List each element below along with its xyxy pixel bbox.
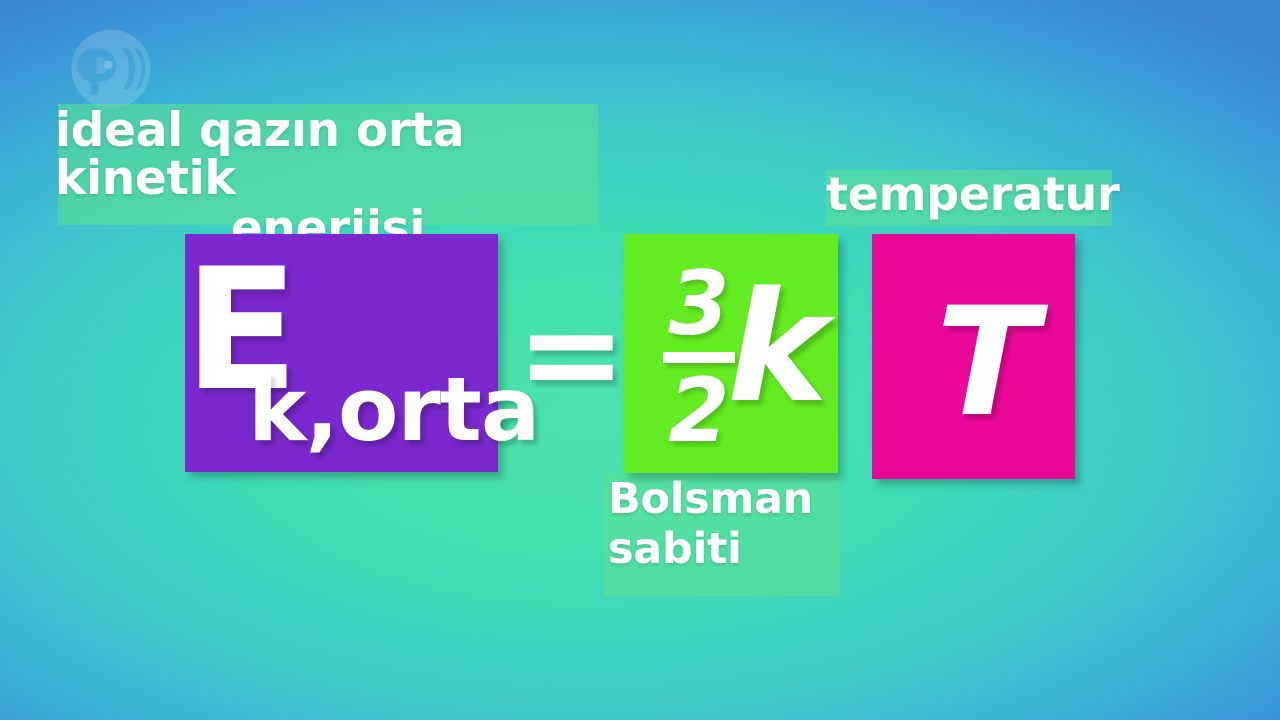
equals-sign: = [516, 288, 623, 420]
label-kinetic-energy: ideal qazın orta kinetik enerjisi [58, 104, 598, 225]
label-boltzmann-line2: sabiti [608, 528, 840, 572]
label-temperature: temperatur [826, 170, 1112, 226]
slide-canvas: ideal qazın orta kinetik enerjisi temper… [0, 0, 1280, 720]
pbs-logo-icon [68, 26, 154, 112]
symbol-T: T [936, 288, 1038, 438]
label-boltzmann-line1: Bolsman [608, 478, 840, 522]
label-boltzmann-constant: Bolsman sabiti [604, 474, 840, 596]
label-kinetic-energy-line1: ideal qazın orta kinetik [55, 107, 598, 203]
symbol-E-subscript: k,orta [248, 366, 539, 454]
symbol-k: k [727, 272, 828, 424]
